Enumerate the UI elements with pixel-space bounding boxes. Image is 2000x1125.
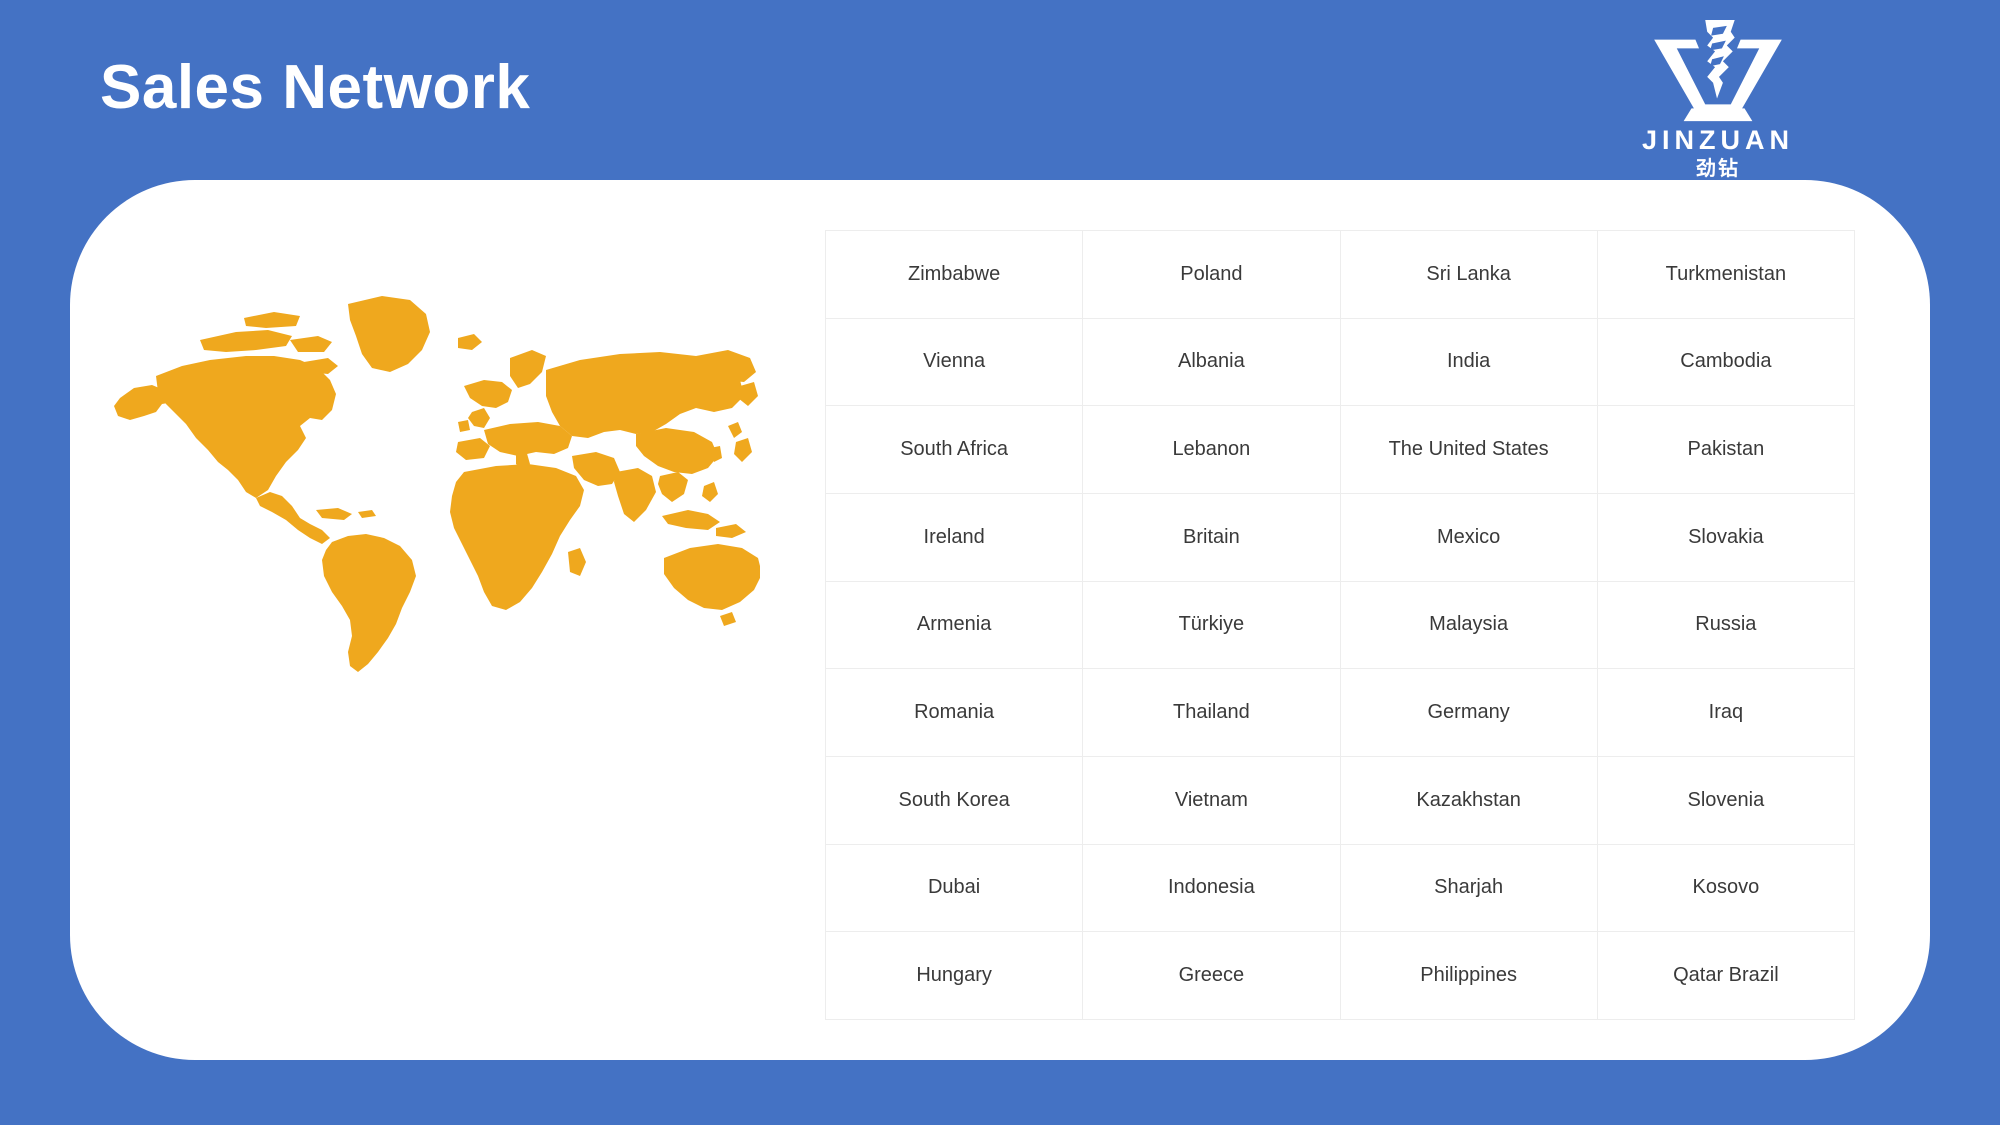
region-cell[interactable]: India: [1340, 318, 1597, 406]
world-map: [60, 180, 760, 700]
region-cell[interactable]: Poland: [1083, 231, 1340, 319]
region-cell[interactable]: Russia: [1597, 581, 1854, 669]
region-cell[interactable]: South Korea: [826, 756, 1083, 844]
region-cell[interactable]: Turkmenistan: [1597, 231, 1854, 319]
table-row: South Korea Vietnam Kazakhstan Slovenia: [826, 756, 1855, 844]
region-cell[interactable]: Germany: [1340, 669, 1597, 757]
region-cell[interactable]: Greece: [1083, 932, 1340, 1020]
region-cell[interactable]: The United States: [1340, 406, 1597, 494]
regions-table: Zimbabwe Poland Sri Lanka Turkmenistan V…: [825, 230, 1855, 1020]
table-row: Hungary Greece Philippines Qatar Brazil: [826, 932, 1855, 1020]
table-row: Armenia Türkiye Malaysia Russia: [826, 581, 1855, 669]
region-cell[interactable]: Kazakhstan: [1340, 756, 1597, 844]
region-cell[interactable]: Qatar Brazil: [1597, 932, 1854, 1020]
region-cell[interactable]: Thailand: [1083, 669, 1340, 757]
logo-wordmark: JINZUAN: [1642, 127, 1794, 154]
table-row: Romania Thailand Germany Iraq: [826, 669, 1855, 757]
region-cell[interactable]: Indonesia: [1083, 844, 1340, 932]
region-cell[interactable]: Hungary: [826, 932, 1083, 1020]
region-cell[interactable]: South Africa: [826, 406, 1083, 494]
region-cell[interactable]: Cambodia: [1597, 318, 1854, 406]
region-cell[interactable]: Türkiye: [1083, 581, 1340, 669]
region-cell[interactable]: Romania: [826, 669, 1083, 757]
world-map-icon: [60, 180, 760, 700]
table-row: Dubai Indonesia Sharjah Kosovo: [826, 844, 1855, 932]
region-cell[interactable]: Philippines: [1340, 932, 1597, 1020]
region-cell[interactable]: Vietnam: [1083, 756, 1340, 844]
region-cell[interactable]: Sri Lanka: [1340, 231, 1597, 319]
region-cell[interactable]: Ireland: [826, 493, 1083, 581]
logo-chinese-name: 劲钻: [1696, 158, 1740, 178]
region-cell[interactable]: Dubai: [826, 844, 1083, 932]
page-title: Sales Network: [100, 52, 530, 123]
region-cell[interactable]: Malaysia: [1340, 581, 1597, 669]
page-header: Sales Network JINZUAN 劲钻: [0, 0, 2000, 190]
region-cell[interactable]: Albania: [1083, 318, 1340, 406]
table-row: South Africa Lebanon The United States P…: [826, 406, 1855, 494]
region-cell[interactable]: Pakistan: [1597, 406, 1854, 494]
region-cell[interactable]: Britain: [1083, 493, 1340, 581]
table-row: Ireland Britain Mexico Slovakia: [826, 493, 1855, 581]
map-landmasses: [114, 296, 760, 672]
region-cell[interactable]: Slovenia: [1597, 756, 1854, 844]
regions-table-body: Zimbabwe Poland Sri Lanka Turkmenistan V…: [826, 231, 1855, 1020]
regions-table-container: Zimbabwe Poland Sri Lanka Turkmenistan V…: [825, 230, 1855, 1020]
region-cell[interactable]: Iraq: [1597, 669, 1854, 757]
region-cell[interactable]: Lebanon: [1083, 406, 1340, 494]
table-row: Zimbabwe Poland Sri Lanka Turkmenistan: [826, 231, 1855, 319]
region-cell[interactable]: Slovakia: [1597, 493, 1854, 581]
region-cell[interactable]: Mexico: [1340, 493, 1597, 581]
region-cell[interactable]: Kosovo: [1597, 844, 1854, 932]
drill-v-logo-icon: [1643, 18, 1793, 126]
region-cell[interactable]: Vienna: [826, 318, 1083, 406]
region-cell[interactable]: Sharjah: [1340, 844, 1597, 932]
region-cell[interactable]: Zimbabwe: [826, 231, 1083, 319]
table-row: Vienna Albania India Cambodia: [826, 318, 1855, 406]
company-logo: JINZUAN 劲钻: [1628, 18, 1808, 178]
region-cell[interactable]: Armenia: [826, 581, 1083, 669]
